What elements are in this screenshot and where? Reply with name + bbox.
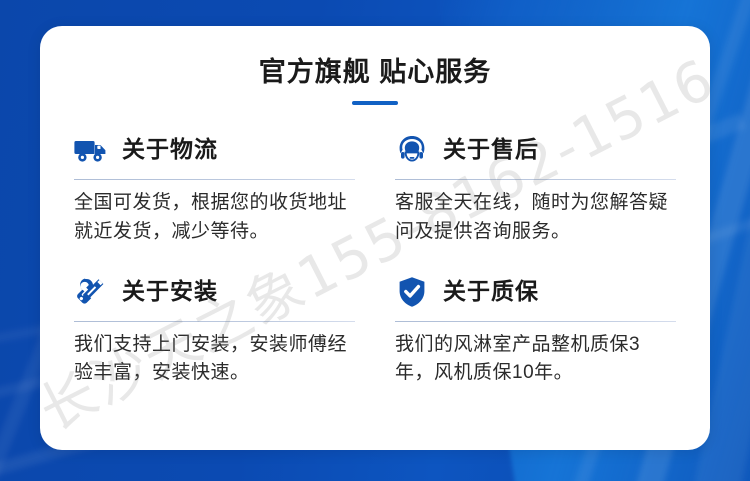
feature-title: 关于物流 (122, 138, 218, 161)
shield-check-icon (395, 275, 429, 309)
feature-description: 全国可发货，根据您的收货地址就近发货，减少等待。 (74, 189, 355, 247)
feature-header: 关于安装 (74, 273, 355, 311)
feature-grid: 关于物流 全国可发货，根据您的收货地址就近发货，减少等待。 (74, 131, 676, 389)
tools-wrench-screwdriver-icon (74, 275, 108, 309)
promo-banner: 官方旗舰 贴心服务 (0, 0, 750, 481)
feature-title: 关于质保 (443, 280, 539, 303)
customer-service-icon (395, 133, 429, 167)
feature-description: 我们支持上门安装，安装师傅经验丰富，安装快速。 (74, 331, 355, 389)
feature-description: 客服全天在线，随时为您解答疑问及提供咨询服务。 (395, 189, 676, 247)
feature-item-logistics: 关于物流 全国可发货，根据您的收货地址就近发货，减少等待。 (74, 131, 355, 247)
feature-header: 关于物流 (74, 131, 355, 169)
feature-header: 关于售后 (395, 131, 676, 169)
feature-header: 关于质保 (395, 273, 676, 311)
delivery-truck-icon (74, 133, 108, 167)
service-info-card: 官方旗舰 贴心服务 (40, 26, 710, 450)
title-underline (352, 101, 398, 105)
feature-description: 我们的风淋室产品整机质保3年，风机质保10年。 (395, 331, 676, 389)
feature-title: 关于售后 (443, 138, 539, 161)
feature-divider (395, 321, 676, 322)
feature-item-after-sales: 关于售后 客服全天在线，随时为您解答疑问及提供咨询服务。 (395, 131, 676, 247)
feature-divider (395, 179, 676, 180)
page-title: 官方旗舰 贴心服务 (74, 56, 676, 90)
feature-item-installation: 关于安装 我们支持上门安装，安装师傅经验丰富，安装快速。 (74, 273, 355, 389)
feature-divider (74, 321, 355, 322)
feature-divider (74, 179, 355, 180)
feature-title: 关于安装 (122, 280, 218, 303)
feature-item-warranty: 关于质保 我们的风淋室产品整机质保3年，风机质保10年。 (395, 273, 676, 389)
